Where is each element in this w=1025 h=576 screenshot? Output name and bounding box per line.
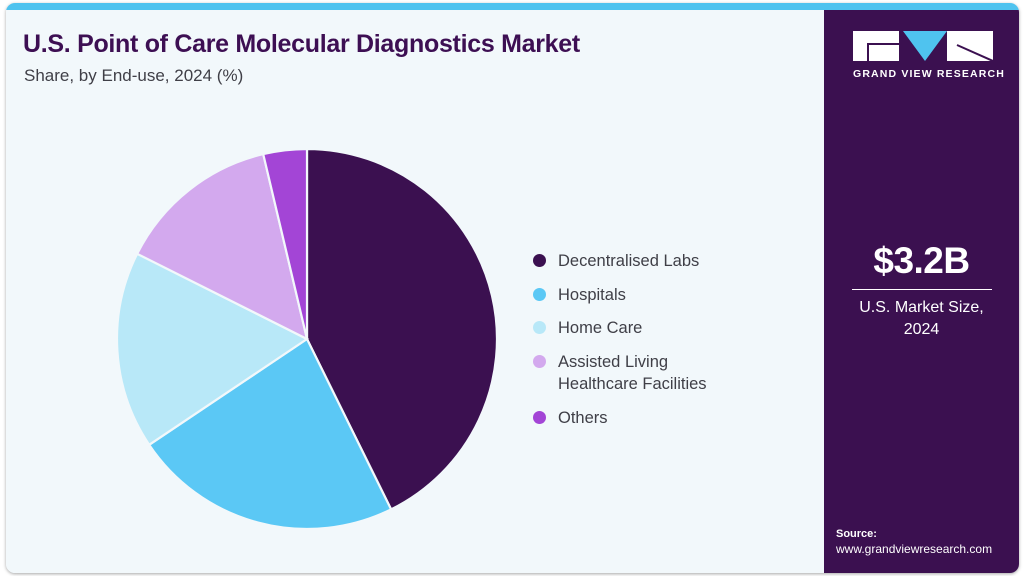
source-block: Source: www.grandviewresearch.com [836, 528, 1016, 556]
market-size-value: $3.2B [824, 242, 1019, 281]
stat-divider [852, 289, 992, 291]
legend-item[interactable]: Hospitals [533, 284, 803, 307]
infographic-canvas: U.S. Point of Care Molecular Diagnostics… [0, 0, 1025, 576]
logo-v-triangle-icon [903, 31, 947, 61]
legend-swatch-icon [533, 355, 546, 368]
pie-chart-svg [112, 144, 502, 534]
legend-item[interactable]: Decentralised Labs [533, 250, 803, 273]
legend-item-label: Hospitals [558, 284, 626, 307]
brand-panel: GRAND VIEW RESEARCH $3.2B U.S. Market Si… [824, 10, 1019, 573]
chart-panel: U.S. Point of Care Molecular Diagnostics… [6, 10, 824, 573]
legend-item-label: Decentralised Labs [558, 250, 699, 273]
legend-swatch-icon [533, 254, 546, 267]
source-label: Source: [836, 528, 1016, 540]
chart-legend: Decentralised LabsHospitalsHome CareAssi… [533, 250, 803, 441]
legend-item[interactable]: Home Care [533, 317, 803, 340]
legend-item[interactable]: Others [533, 407, 803, 430]
legend-swatch-icon [533, 321, 546, 334]
source-url: www.grandviewresearch.com [836, 542, 1016, 556]
logo-g-icon [853, 31, 899, 61]
legend-item-label: Assisted Living Healthcare Facilities [558, 351, 707, 396]
legend-item[interactable]: Assisted Living Healthcare Facilities [533, 351, 803, 396]
page-title: U.S. Point of Care Molecular Diagnostics… [23, 30, 580, 59]
grand-view-research-logo: GRAND VIEW RESEARCH [853, 31, 993, 80]
logo-mark [853, 31, 993, 61]
logo-r-icon [947, 31, 993, 61]
market-size-caption: U.S. Market Size, 2024 [824, 297, 1019, 340]
chart-card: U.S. Point of Care Molecular Diagnostics… [6, 3, 1019, 573]
logo-wordmark: GRAND VIEW RESEARCH [853, 68, 993, 80]
legend-item-label: Home Care [558, 317, 642, 340]
pie-chart [112, 144, 502, 534]
page-subtitle: Share, by End-use, 2024 (%) [24, 66, 243, 86]
top-accent-strip [6, 3, 1019, 10]
market-size-block: $3.2B U.S. Market Size, 2024 [824, 242, 1019, 341]
legend-swatch-icon [533, 288, 546, 301]
legend-swatch-icon [533, 411, 546, 424]
legend-item-label: Others [558, 407, 608, 430]
